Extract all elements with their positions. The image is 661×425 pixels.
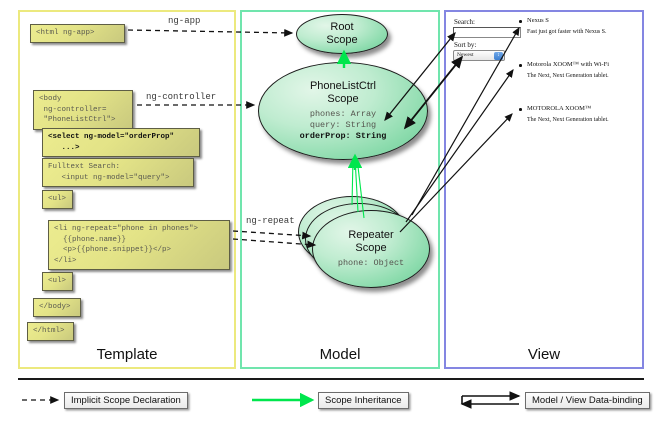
code-box-ul-open: <ul> (42, 190, 73, 209)
chevron-down-icon: ↕ (494, 52, 503, 60)
scope-phonelistctrl-title-line2: Scope (327, 93, 358, 106)
phone-name: MOTOROLA XOOM™ (527, 105, 591, 112)
scope-repeater: Repeater Scope phone: Object (312, 210, 430, 288)
scope-phonelistctrl-props-normal: phones: Array query: String (310, 109, 376, 130)
connector-label-ng-app: ng-app (168, 16, 200, 26)
scope-root: Root Scope (296, 14, 388, 54)
panel-view-label: View (446, 346, 642, 363)
code-box-ul-close: <ul> (42, 272, 73, 291)
legend-item-implicit-scope-declaration: Implicit Scope Declaration (64, 392, 188, 409)
connector-label-ng-controller: ng-controller (146, 92, 216, 102)
code-box-select: <select ng-model="orderProp" ...> (42, 128, 200, 157)
legend-item-model-view-data-binding: Model / View Data-binding (525, 392, 650, 409)
phone-snippet: The Next, Next Generation tablet. (527, 117, 609, 123)
scope-phonelistctrl-props-bold: orderProp: String (300, 131, 387, 141)
code-box-html-close: </html> (27, 322, 74, 341)
code-box-li-repeat: <li ng-repeat="phone in phones"> {{phone… (48, 220, 230, 270)
search-input[interactable] (453, 27, 521, 38)
scope-repeater-title-line2: Scope (355, 242, 386, 255)
bullet-icon (519, 108, 522, 111)
scope-repeater-stack: Repeater Scope phone: Object (298, 196, 430, 288)
panel-template-label: Template (20, 346, 234, 363)
panel-model-label: Model (242, 346, 438, 363)
diagram-canvas: Template Model View <html ng-app> <body … (0, 0, 661, 425)
scope-root-title-line2: Scope (326, 34, 357, 47)
bullet-icon (519, 20, 522, 23)
scope-root-title-line1: Root (330, 21, 353, 34)
legend-item-scope-inheritance: Scope Inheritance (318, 392, 409, 409)
scope-repeater-props: phone: Object (338, 258, 404, 269)
phone-name: Nexus S (527, 17, 549, 24)
code-box-search-input: Fulltext Search: <input ng-model="query"… (42, 158, 194, 187)
view-search-label: Search: (454, 18, 475, 26)
scope-phonelistctrl-title-line1: PhoneListCtrl (310, 80, 376, 93)
code-box-body-open: <body ng-controller= "PhoneListCtrl"> (33, 90, 133, 130)
phone-name: Motorola XOOM™ with Wi-Fi (527, 61, 609, 68)
scope-phonelistctrl: PhoneListCtrl Scope phones: Array query:… (258, 62, 428, 160)
sort-by-selected-value: Newest (457, 52, 474, 58)
bullet-icon (519, 64, 522, 67)
scope-repeater-title-line1: Repeater (348, 229, 393, 242)
code-box-body-close: </body> (33, 298, 81, 317)
phone-snippet: Fast just got faster with Nexus S. (527, 29, 607, 35)
view-sort-label: Sort by: (454, 41, 476, 49)
connector-label-ng-repeat: ng-repeat (246, 216, 295, 226)
legend-divider (18, 378, 644, 380)
phone-snippet: The Next, Next Generation tablet. (527, 73, 609, 79)
code-box-html-open: <html ng-app> (30, 24, 125, 43)
sort-by-select[interactable]: Newest ↕ (453, 50, 505, 61)
scope-phonelistctrl-props: phones: Array query: String orderProp: S… (300, 109, 387, 142)
